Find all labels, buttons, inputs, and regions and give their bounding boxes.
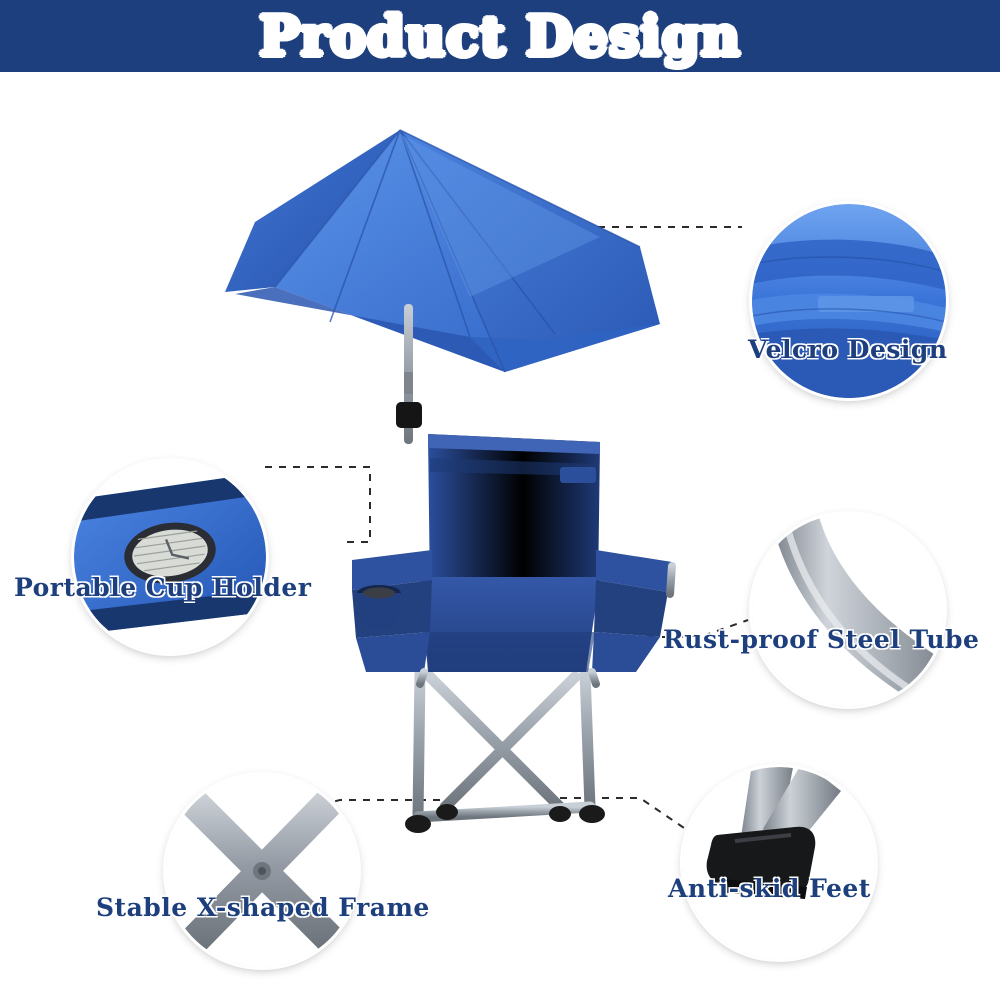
foot-right bbox=[579, 805, 605, 823]
chair-backrest bbox=[428, 434, 600, 592]
product-illustration-stage: Velcro Design bbox=[0, 72, 1000, 1000]
steel-tube-closeup-image bbox=[752, 514, 944, 706]
detail-bubble-cup-holder[interactable] bbox=[74, 461, 266, 653]
umbrella-clamp bbox=[396, 402, 422, 428]
detail-bubble-steel-tube[interactable] bbox=[752, 514, 944, 706]
foot-back-left bbox=[436, 804, 458, 820]
chair-seat bbox=[420, 577, 600, 672]
detail-bubble-anti-skid-feet[interactable] bbox=[683, 767, 875, 959]
cup-holder-closeup-image bbox=[74, 461, 266, 653]
page-title: Product Design bbox=[259, 4, 741, 68]
foot-back-right bbox=[549, 806, 571, 822]
umbrella-canopy bbox=[225, 130, 660, 372]
detail-bubble-velcro[interactable] bbox=[752, 204, 946, 398]
detail-bubble-x-frame[interactable] bbox=[166, 775, 358, 967]
chair-armrest-right bbox=[592, 550, 672, 672]
callout-label-velcro: Velcro Design bbox=[748, 335, 948, 364]
callout-label-steel-tube: Rust-proof Steel Tube bbox=[663, 625, 979, 654]
anti-skid-feet-closeup-image bbox=[683, 767, 875, 959]
callout-label-anti-skid-feet: Anti-skid Feet bbox=[668, 874, 871, 903]
callout-label-cup-holder: Portable Cup Holder bbox=[14, 573, 311, 602]
foot-left bbox=[405, 815, 431, 833]
cup-holder-on-chair bbox=[357, 585, 401, 628]
callout-label-x-frame: Stable X-shaped Frame bbox=[96, 893, 430, 922]
chair-frame bbox=[418, 672, 590, 817]
x-frame-closeup-image bbox=[166, 775, 358, 967]
header-banner: Product Design bbox=[0, 0, 1000, 72]
velcro-closeup-image bbox=[752, 204, 946, 398]
